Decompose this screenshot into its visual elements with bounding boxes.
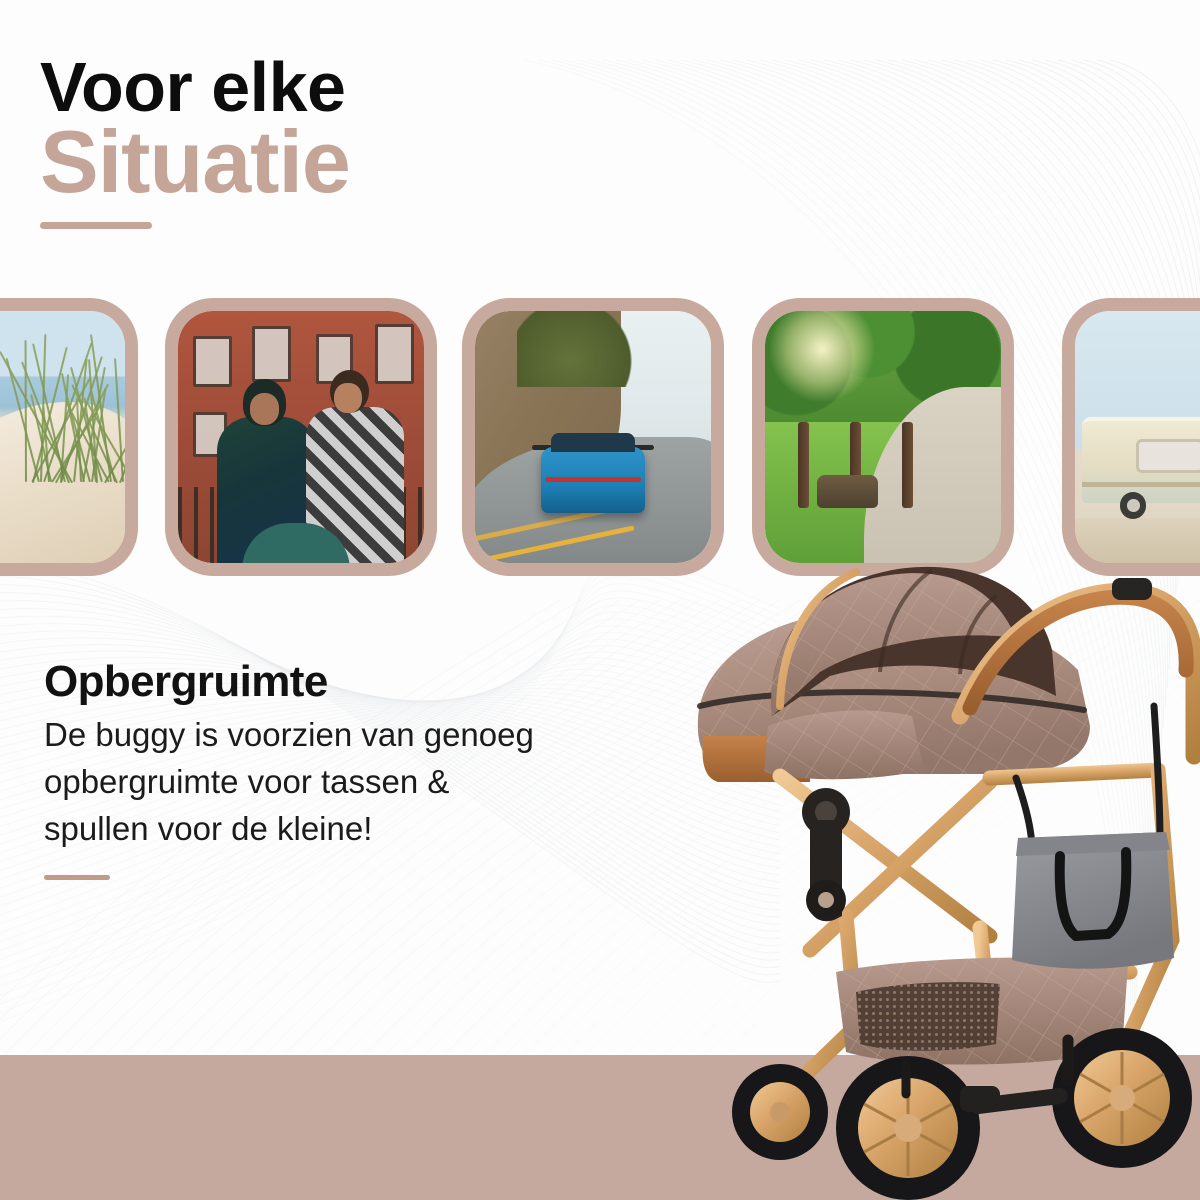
marketing-banner: Voor elke Situatie — [0, 0, 1200, 1200]
beach-dunes-image — [0, 311, 125, 563]
feature-title: Opbergruimte — [44, 658, 704, 706]
thumbnail-beach-dunes — [0, 298, 138, 576]
stroller-apron — [764, 711, 924, 780]
headline-line-2: Situatie — [40, 116, 680, 208]
feature-description: De buggy is voorzien van genoeg opbergru… — [44, 712, 704, 853]
feature-line-3: spullen voor de kleine! — [44, 806, 704, 853]
feature-block: Opbergruimte De buggy is voorzien van ge… — [44, 658, 704, 880]
city-couple-pram-image — [178, 311, 424, 563]
headline-block: Voor elke Situatie — [40, 52, 680, 229]
feature-line-2: opbergruimte voor tassen & — [44, 759, 704, 806]
feature-underline — [44, 875, 110, 880]
feature-line-1: De buggy is voorzien van genoeg — [44, 712, 704, 759]
thumbnail-city-couple-pram — [165, 298, 437, 576]
headline-underline — [40, 222, 152, 229]
product-stroller-image — [660, 520, 1200, 1200]
stroller-hinge — [802, 788, 850, 921]
